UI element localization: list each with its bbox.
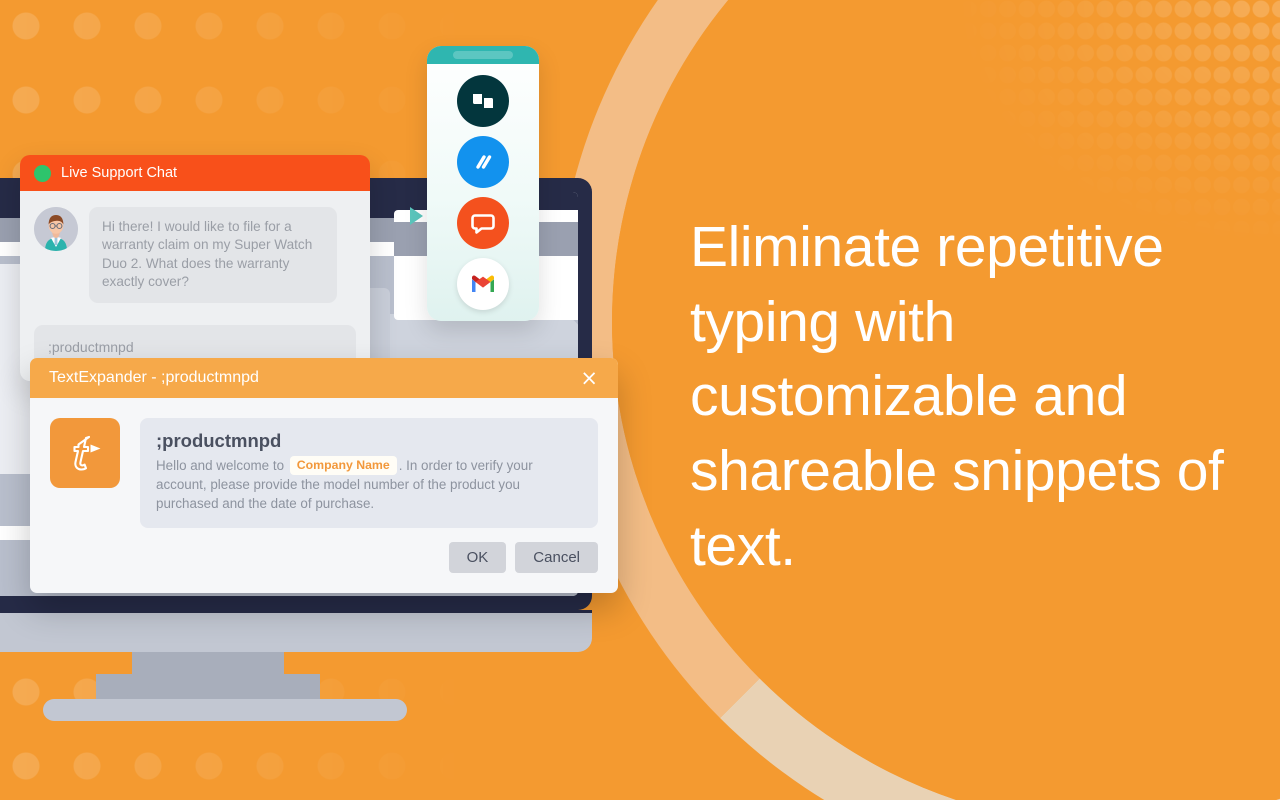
fill-in-field[interactable]: Company Name <box>290 456 397 475</box>
drag-handle[interactable] <box>453 51 513 59</box>
chat-message-row: Hi there! I would like to file for a war… <box>34 207 356 303</box>
snippet-preview: ;productmnpd Hello and welcome to Compan… <box>140 418 598 528</box>
dialog-title: TextExpander - ;productmnpd <box>49 369 259 387</box>
promo-graphic: Live Support Chat <box>0 0 1280 800</box>
helpscout-icon[interactable] <box>457 136 509 188</box>
ok-button[interactable]: OK <box>449 542 507 573</box>
app-panel-header[interactable] <box>427 46 539 64</box>
chat-titlebar: Live Support Chat <box>20 155 370 191</box>
cursor-pointer-icon <box>410 207 423 225</box>
snippet-body: Hello and welcome to Company Name. In or… <box>156 456 582 514</box>
gmail-icon[interactable] <box>457 258 509 310</box>
app-integrations-panel[interactable] <box>427 46 539 321</box>
snippet-abbreviation: ;productmnpd <box>156 430 582 452</box>
headline-text: Eliminate repetitive typing with customi… <box>690 210 1250 583</box>
dialog-actions: OK Cancel <box>30 542 618 593</box>
snippet-text-before: Hello and welcome to <box>156 458 284 473</box>
dialog-content: ;productmnpd Hello and welcome to Compan… <box>30 398 618 542</box>
chat-body: Hi there! I would like to file for a war… <box>20 191 370 381</box>
textexpander-dialog: TextExpander - ;productmnpd × ;productmn… <box>30 358 618 593</box>
monitor-chin <box>0 610 592 652</box>
dialog-titlebar: TextExpander - ;productmnpd × <box>30 358 618 398</box>
close-icon[interactable]: × <box>576 366 602 391</box>
intercom-icon[interactable] <box>457 197 509 249</box>
app-icon-list <box>427 64 539 310</box>
textexpander-logo-icon <box>50 418 120 488</box>
live-support-chat-window: Live Support Chat <box>20 155 370 381</box>
cancel-button[interactable]: Cancel <box>515 542 598 573</box>
monitor-base <box>43 699 407 721</box>
zendesk-icon[interactable] <box>457 75 509 127</box>
avatar <box>34 207 78 251</box>
chat-title: Live Support Chat <box>61 165 177 181</box>
chat-message-bubble: Hi there! I would like to file for a war… <box>89 207 337 303</box>
online-status-dot <box>34 165 51 182</box>
